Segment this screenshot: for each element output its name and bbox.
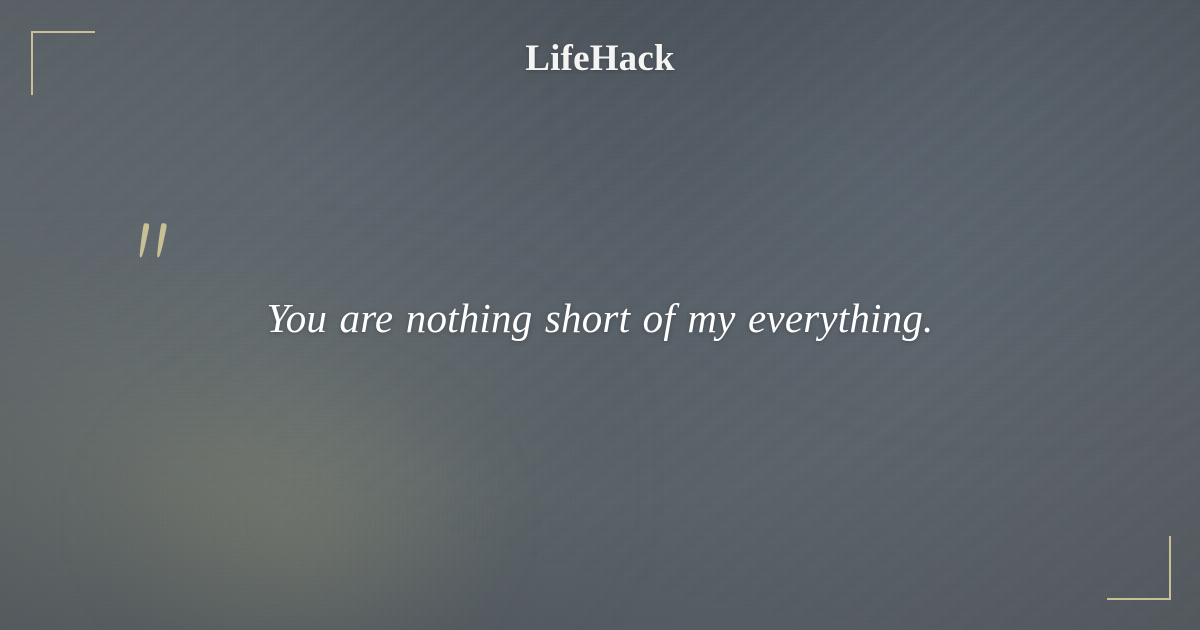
lifehack-logo: LifeHack xyxy=(0,40,1200,77)
quote-text: You are nothing short of my everything. xyxy=(266,292,933,344)
quote-mark-icon xyxy=(131,218,179,274)
quote-container: You are nothing short of my everything. xyxy=(0,292,1200,344)
quote-card: LifeHack You are nothing short of my eve… xyxy=(0,0,1200,630)
